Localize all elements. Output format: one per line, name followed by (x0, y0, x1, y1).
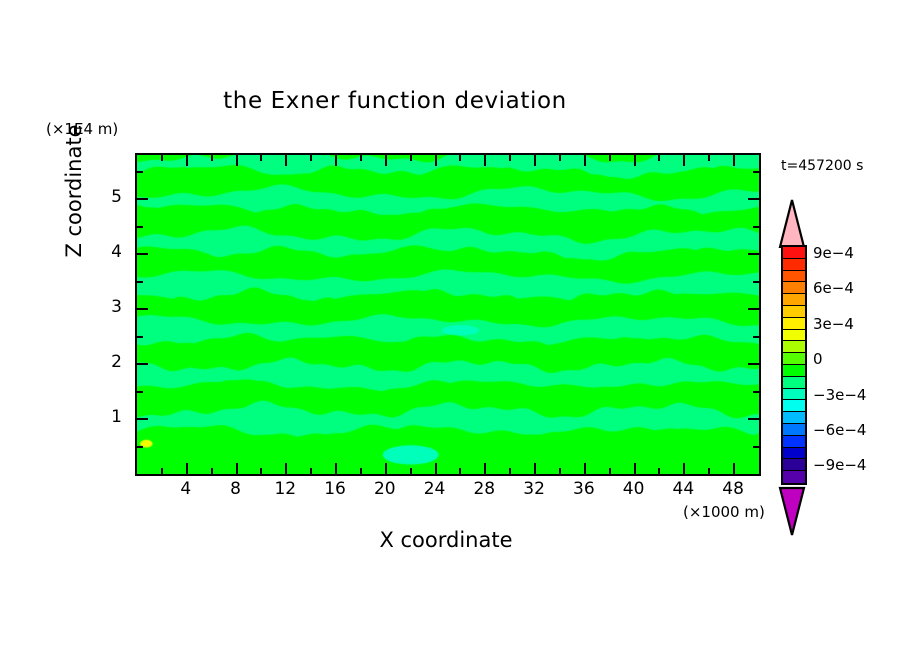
x-tick-label: 40 (612, 479, 656, 499)
colorbar-band (783, 318, 805, 330)
x-tick-minor (509, 468, 511, 474)
y-tick-minor-right (753, 281, 759, 283)
x-tick-minor (161, 468, 163, 474)
x-tick-minor-top (161, 155, 163, 161)
x-tick-minor-top (310, 155, 312, 161)
x-tick-label: 28 (462, 479, 506, 499)
y-tick-minor (137, 336, 143, 338)
x-tick-major-top (733, 155, 735, 166)
x-tick-minor (310, 468, 312, 474)
x-tick-major-top (285, 155, 287, 166)
x-tick-minor (609, 468, 611, 474)
x-tick-label: 48 (711, 479, 755, 499)
x-axis-unit-label: (×1000 m) (683, 503, 765, 521)
x-tick-label: 44 (661, 479, 705, 499)
colorbar-tick-label: 6e−4 (813, 279, 854, 297)
y-tick-major-right (748, 308, 759, 310)
x-tick-minor (708, 468, 710, 474)
x-tick-major (683, 463, 685, 474)
x-tick-major-top (683, 155, 685, 166)
x-tick-major-top (634, 155, 636, 166)
x-tick-minor-top (708, 155, 710, 161)
x-tick-minor (260, 468, 262, 474)
colorbar-tick-label: −3e−4 (813, 386, 866, 404)
colorbar-band (783, 436, 805, 448)
colorbar-band (783, 389, 805, 401)
colorbar-tick-label: 9e−4 (813, 244, 854, 262)
x-tick-major-top (484, 155, 486, 166)
colorbar-band (783, 294, 805, 306)
x-tick-minor-top (211, 155, 213, 161)
y-tick-minor (137, 226, 143, 228)
x-tick-major-top (335, 155, 337, 166)
x-tick-label: 12 (263, 479, 307, 499)
colorbar-band (783, 365, 805, 377)
x-tick-major-top (435, 155, 437, 166)
colorbar-tick-label: 0 (813, 350, 823, 368)
x-tick-minor-top (509, 155, 511, 161)
x-tick-minor-top (658, 155, 660, 161)
y-tick-major (137, 253, 148, 255)
x-tick-major (584, 463, 586, 474)
y-tick-major-right (748, 418, 759, 420)
colorbar-tick-label: −9e−4 (813, 456, 866, 474)
colorbar-underflow-arrow-icon (777, 485, 807, 537)
contour-plot-area[interactable] (135, 153, 761, 476)
colorbar-band (783, 353, 805, 365)
x-tick-minor-top (360, 155, 362, 161)
y-tick-minor-right (753, 446, 759, 448)
y-axis-title: Z coordinate (62, 101, 86, 281)
colorbar-band (783, 271, 805, 283)
x-tick-major (285, 463, 287, 474)
x-tick-major (733, 463, 735, 474)
y-tick-minor (137, 446, 143, 448)
x-tick-major (186, 463, 188, 474)
y-tick-label: 5 (92, 187, 122, 207)
x-tick-minor (658, 468, 660, 474)
x-tick-minor (211, 468, 213, 474)
y-tick-minor (137, 281, 143, 283)
colorbar-tick-label: −6e−4 (813, 421, 866, 439)
x-tick-label: 16 (313, 479, 357, 499)
x-tick-label: 4 (164, 479, 208, 499)
colorbar-band (783, 330, 805, 342)
colorbar-band (783, 247, 805, 259)
x-tick-major-top (186, 155, 188, 166)
x-tick-major (236, 463, 238, 474)
x-tick-label: 24 (413, 479, 457, 499)
x-tick-minor (459, 468, 461, 474)
x-tick-minor-top (559, 155, 561, 161)
x-tick-minor (559, 468, 561, 474)
colorbar-band (783, 471, 805, 483)
x-tick-label: 8 (214, 479, 258, 499)
colorbar-band (783, 448, 805, 460)
y-tick-major (137, 363, 148, 365)
x-tick-major (435, 463, 437, 474)
x-tick-major (484, 463, 486, 474)
y-tick-major (137, 308, 148, 310)
y-tick-label: 1 (92, 407, 122, 427)
x-tick-major-top (534, 155, 536, 166)
y-tick-major-right (748, 198, 759, 200)
colorbar-band (783, 459, 805, 471)
x-tick-minor (410, 468, 412, 474)
y-tick-major (137, 418, 148, 420)
colorbar-band (783, 400, 805, 412)
colorbar-band (783, 377, 805, 389)
colorbar-overflow-arrow-icon (777, 198, 807, 248)
y-tick-minor-right (753, 391, 759, 393)
x-tick-minor-top (410, 155, 412, 161)
x-axis-title: X coordinate (135, 528, 757, 552)
x-tick-major (385, 463, 387, 474)
x-tick-minor-top (260, 155, 262, 161)
x-tick-major (335, 463, 337, 474)
y-tick-minor-right (753, 171, 759, 173)
x-tick-major-top (385, 155, 387, 166)
x-tick-minor-top (609, 155, 611, 161)
x-tick-major (634, 463, 636, 474)
timestamp-annotation: t=457200 s (781, 158, 863, 174)
y-tick-label: 4 (92, 242, 122, 262)
y-tick-minor (137, 391, 143, 393)
colorbar-bands (781, 245, 807, 485)
x-tick-minor (360, 468, 362, 474)
colorbar-band (783, 412, 805, 424)
colorbar-band (783, 306, 805, 318)
page-title: the Exner function deviation (0, 88, 790, 114)
x-tick-minor-top (459, 155, 461, 161)
y-tick-major (137, 198, 148, 200)
x-tick-major (534, 463, 536, 474)
y-tick-minor-right (753, 336, 759, 338)
colorbar-band (783, 282, 805, 294)
y-tick-label: 3 (92, 297, 122, 317)
x-tick-label: 20 (363, 479, 407, 499)
x-tick-major-top (584, 155, 586, 166)
colorbar-band (783, 259, 805, 271)
colorbar-band (783, 341, 805, 353)
contour-field (137, 155, 759, 474)
colorbar-band (783, 424, 805, 436)
x-tick-major-top (236, 155, 238, 166)
y-tick-minor-right (753, 226, 759, 228)
y-tick-minor (137, 171, 143, 173)
x-tick-label: 36 (562, 479, 606, 499)
y-tick-major-right (748, 363, 759, 365)
y-tick-major-right (748, 253, 759, 255)
y-tick-label: 2 (92, 352, 122, 372)
colorbar-tick-label: 3e−4 (813, 315, 854, 333)
x-tick-label: 32 (512, 479, 556, 499)
